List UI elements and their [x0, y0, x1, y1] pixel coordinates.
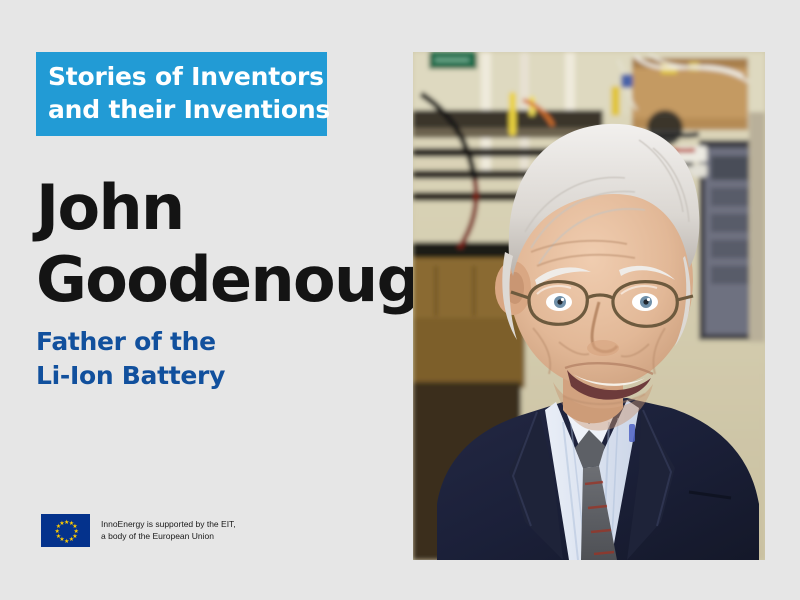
- footer: ★★★★★★★★★★★★ InnoEnergy is supported by …: [41, 514, 236, 547]
- page-subtitle: Father of the Li-Ion Battery: [36, 325, 366, 393]
- footer-support-text: InnoEnergy is supported by the EIT, a bo…: [101, 519, 236, 542]
- eu-star-icon: ★: [59, 521, 64, 526]
- series-badge-line-2: and their Inventions: [48, 93, 315, 126]
- person-name-line-2: Goodenough: [36, 244, 436, 316]
- eu-star-icon: ★: [64, 539, 69, 544]
- eu-flag-icon: ★★★★★★★★★★★★: [41, 514, 90, 547]
- footer-text-line-1: InnoEnergy is supported by the EIT,: [101, 519, 236, 531]
- person-name-line-1: John: [36, 172, 436, 244]
- portrait-photo: [413, 52, 765, 560]
- person-role-line-2: Li-Ion Battery: [36, 359, 366, 393]
- person-role-line-1: Father of the: [36, 325, 366, 359]
- page-title: John Goodenough: [36, 172, 436, 316]
- series-badge: Stories of Inventors and their Invention…: [36, 52, 327, 136]
- series-badge-line-1: Stories of Inventors: [48, 60, 315, 93]
- portrait-photo-graphic: [413, 52, 765, 560]
- footer-text-line-2: a body of the European Union: [101, 531, 236, 543]
- eu-star-icon: ★: [69, 537, 74, 542]
- slide-canvas: Stories of Inventors and their Invention…: [0, 0, 800, 600]
